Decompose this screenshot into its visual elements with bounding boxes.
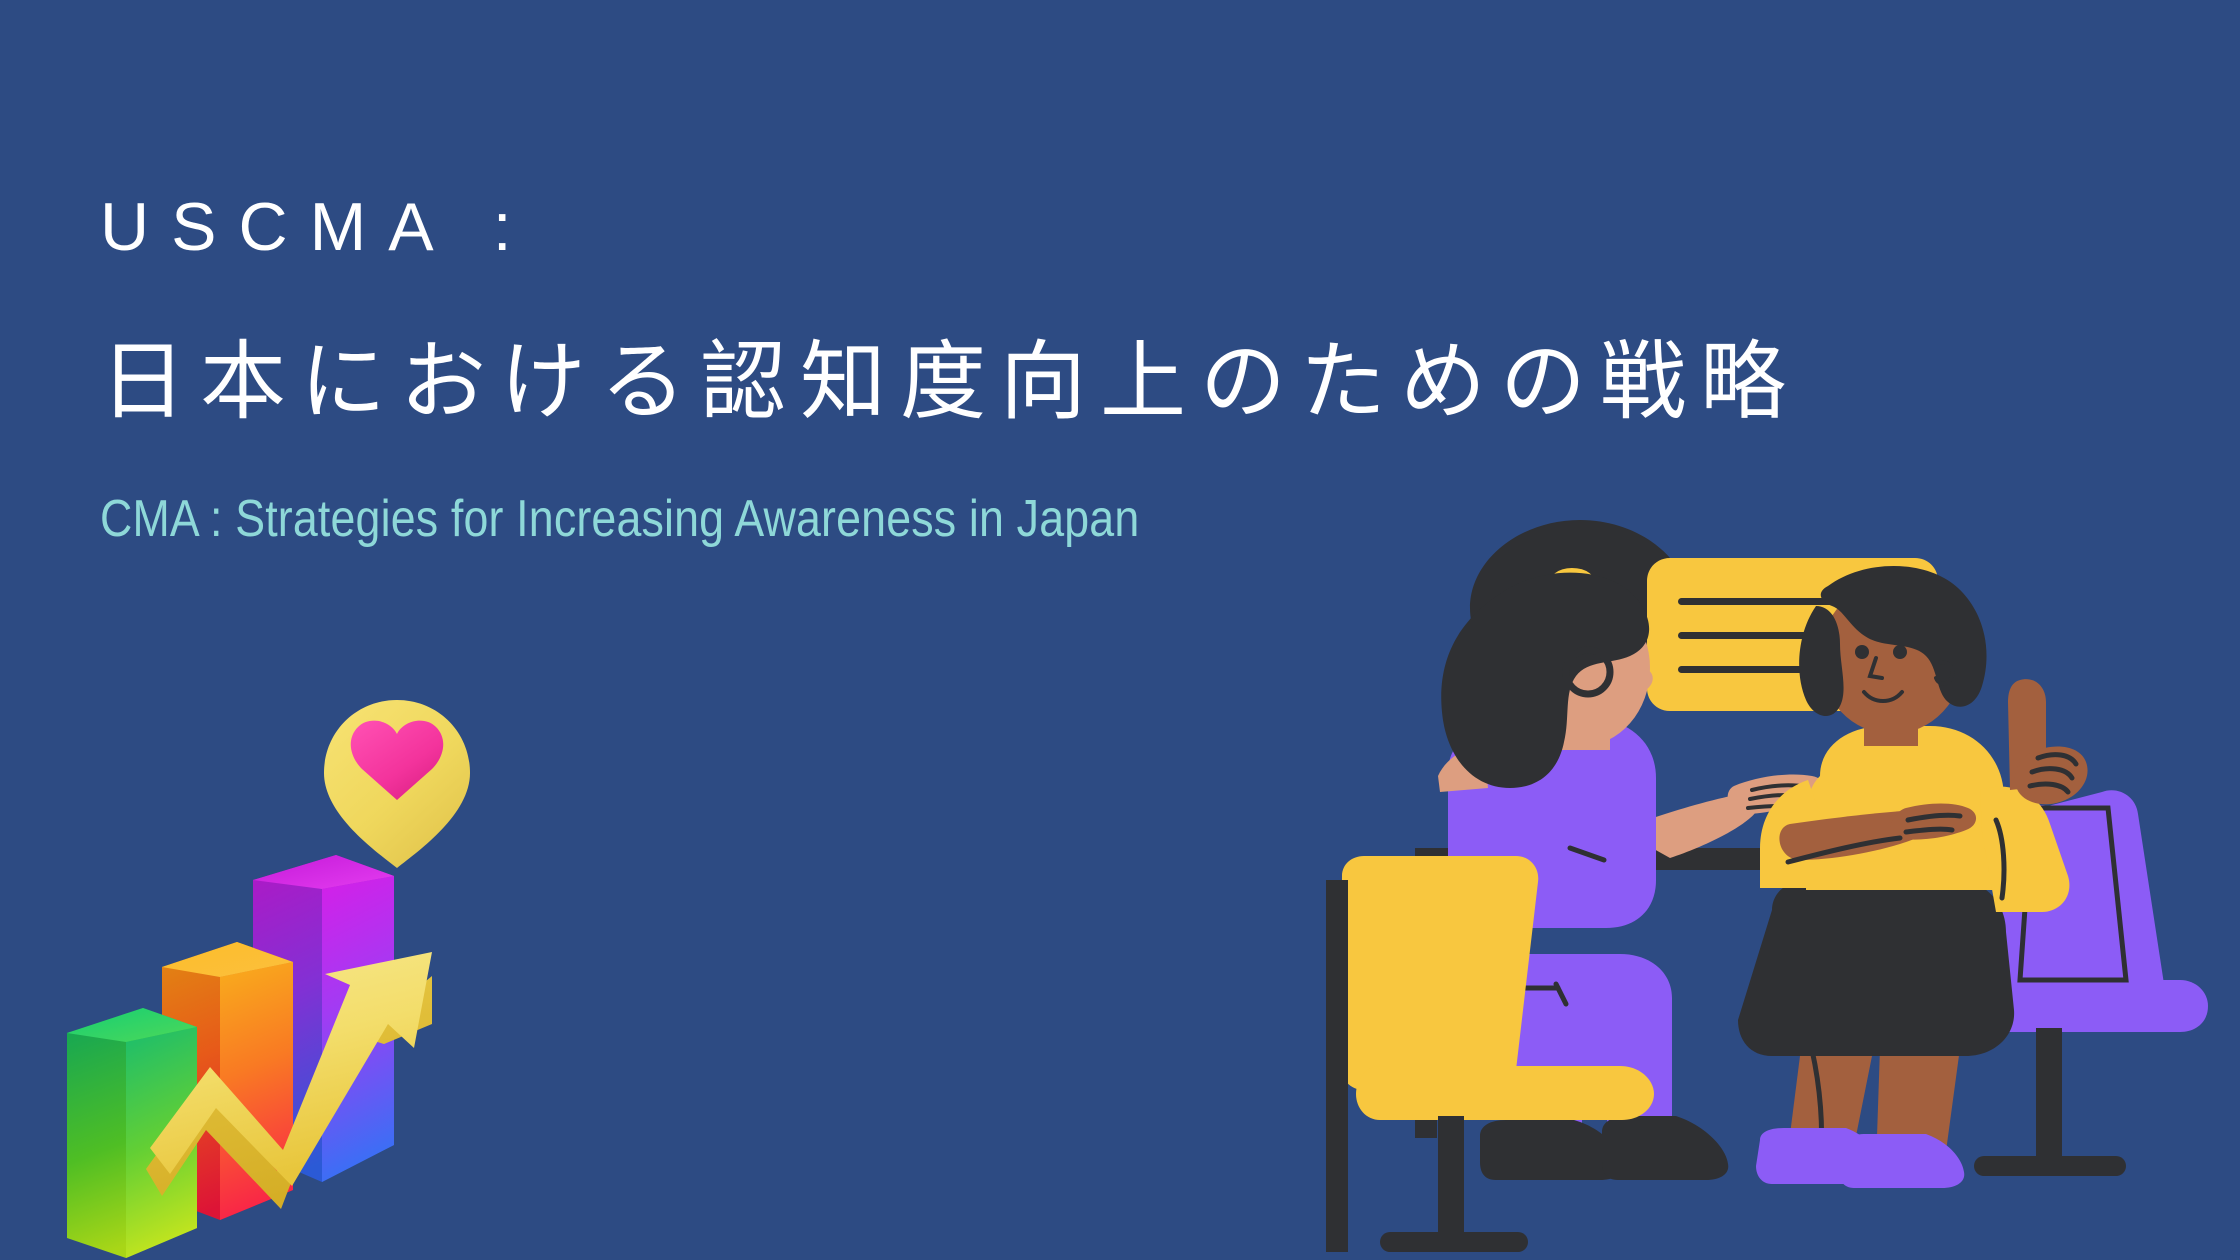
title-block: USCMA : 日本における認知度向上のための戦略 CMA : Strategi… — [100, 190, 1600, 550]
eye-icon — [1893, 645, 1907, 659]
slide-canvas: USCMA : 日本における認知度向上のための戦略 CMA : Strategi… — [0, 0, 2240, 1260]
eye-icon — [1855, 645, 1869, 659]
bubble-text-line — [1678, 666, 1818, 673]
subtitle: CMA : Strategies for Increasing Awarenes… — [100, 432, 1390, 550]
eyebrow-title: USCMA : — [100, 190, 1600, 265]
location-pin-icon — [324, 700, 470, 868]
people-illustration-svg: ? — [1320, 580, 2240, 1260]
page-title: 日本における認知度向上のための戦略 — [100, 265, 1600, 432]
person-right — [1738, 566, 2208, 1188]
people-illustration: ? — [1320, 580, 2240, 1260]
chart-illustration — [40, 690, 510, 1260]
chart-illustration-svg — [40, 690, 510, 1260]
